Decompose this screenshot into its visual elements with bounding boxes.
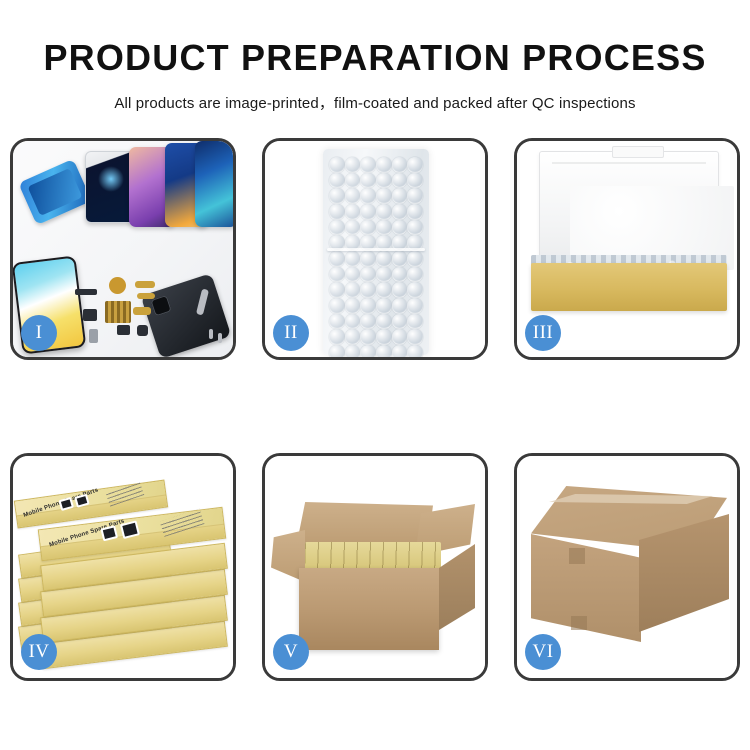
step-badge-4: IV: [21, 634, 57, 670]
phone-teal-icon: [195, 141, 233, 227]
bubble-wrap-package-icon: [323, 149, 429, 355]
step-panel-6[interactable]: VI: [514, 453, 740, 681]
process-grid: I: [10, 138, 740, 681]
product-photo-on-box: [120, 520, 140, 539]
battery-connector-part-icon: [117, 325, 130, 335]
process-row-bottom: Mobile Phone Spare Parts Mobile Phone Sp…: [10, 453, 740, 681]
step-badge-5: V: [273, 634, 309, 670]
wrap-seam: [327, 248, 425, 251]
header: PRODUCT PREPARATION PROCESS All products…: [0, 0, 750, 113]
box-spec-lines: [106, 482, 145, 507]
step-badge-3: III: [525, 315, 561, 351]
step-badge-1: I: [21, 315, 57, 351]
product-photo-on-box: [100, 525, 118, 541]
page-subtitle: All products are image-printed，film-coat…: [0, 92, 750, 113]
ribbon-cable-part-icon: [133, 307, 151, 315]
screw-icon: [209, 329, 213, 339]
sim-tray-part-icon: [89, 329, 98, 343]
step-panel-2[interactable]: II: [262, 138, 488, 360]
step-badge-2: II: [273, 315, 309, 351]
carton-front-face: [299, 568, 439, 650]
kraft-tray-icon: [531, 263, 727, 311]
camera-module-part-icon: [83, 309, 97, 321]
process-row-top: I: [10, 138, 740, 360]
lcd-screen-blue-icon: [18, 159, 92, 225]
logic-board-ic-icon: [105, 301, 131, 323]
product-photo-on-box: [58, 497, 74, 511]
page-title: PRODUCT PREPARATION PROCESS: [0, 40, 750, 76]
taptic-coil-part-icon: [109, 277, 126, 294]
carton-back-flap: [297, 502, 433, 546]
button-flex-part-icon: [137, 293, 155, 299]
vibrator-part-icon: [137, 325, 148, 336]
infographic-page: PRODUCT PREPARATION PROCESS All products…: [0, 0, 750, 750]
step-badge-6: VI: [525, 634, 561, 670]
speaker-part-icon: [75, 289, 97, 295]
carton-seam-tab: [569, 548, 585, 564]
lid-tab: [612, 146, 664, 158]
carton-side-face: [439, 544, 475, 630]
step-panel-1[interactable]: I: [10, 138, 236, 360]
flex-cable-part-icon: [135, 281, 155, 288]
step-panel-5[interactable]: V: [262, 453, 488, 681]
bubble-grid: [329, 157, 423, 347]
screw-icon: [218, 333, 222, 343]
step-panel-4[interactable]: Mobile Phone Spare Parts Mobile Phone Sp…: [10, 453, 236, 681]
step-panel-3[interactable]: III: [514, 138, 740, 360]
carton-seam-tab: [571, 616, 587, 630]
